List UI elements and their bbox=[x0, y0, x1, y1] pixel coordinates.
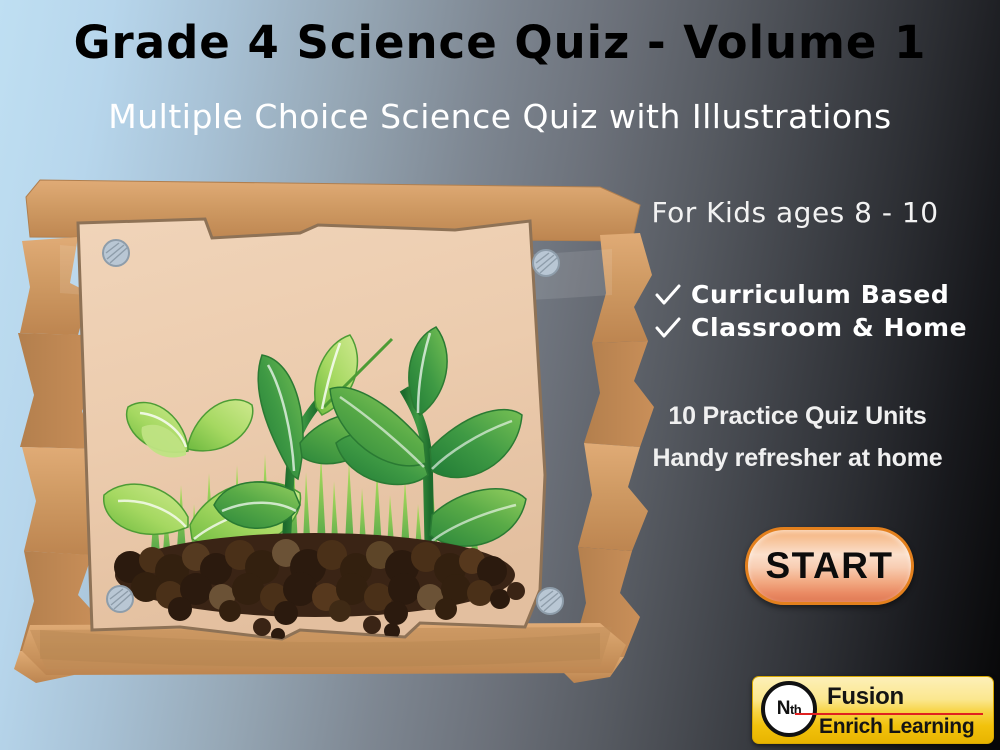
logo-tagline: Enrich Learning bbox=[819, 715, 974, 739]
nth-mark-icon: Nth bbox=[761, 681, 817, 737]
screw-icon-top-left bbox=[103, 240, 129, 266]
start-button[interactable]: START bbox=[745, 527, 914, 605]
feature-list: Curriculum Based Classroom & Home bbox=[655, 280, 985, 346]
screw-icon-bottom-right bbox=[537, 588, 563, 614]
feature-label: Curriculum Based bbox=[691, 280, 949, 309]
check-icon bbox=[655, 315, 681, 341]
page-subtitle: Multiple Choice Science Quiz with Illust… bbox=[0, 97, 1000, 136]
parchment-panel bbox=[78, 219, 563, 642]
wooden-sign-illustration bbox=[0, 175, 660, 685]
promo-line-2: Handy refresher at home bbox=[600, 437, 995, 479]
page-title: Grade 4 Science Quiz - Volume 1 bbox=[0, 16, 1000, 69]
promo-text: 10 Practice Quiz Units Handy refresher a… bbox=[600, 395, 995, 479]
screw-icon-bottom-left bbox=[107, 586, 133, 612]
nth-mark-text: Nth bbox=[777, 698, 802, 720]
start-button-label: START bbox=[765, 545, 893, 587]
age-range-label: For Kids ages 8 - 10 bbox=[600, 196, 990, 229]
logo-brand-name: Fusion bbox=[827, 683, 904, 711]
feature-label: Classroom & Home bbox=[691, 313, 967, 342]
screw-icon-top-right bbox=[533, 250, 559, 276]
check-icon bbox=[655, 282, 681, 308]
list-item: Curriculum Based bbox=[655, 280, 985, 309]
brand-logo[interactable]: Nth Fusion Enrich Learning bbox=[752, 676, 994, 744]
list-item: Classroom & Home bbox=[655, 313, 985, 342]
promo-line-1: 10 Practice Quiz Units bbox=[600, 395, 995, 437]
quiz-title-screen: Grade 4 Science Quiz - Volume 1 Multiple… bbox=[0, 0, 1000, 750]
